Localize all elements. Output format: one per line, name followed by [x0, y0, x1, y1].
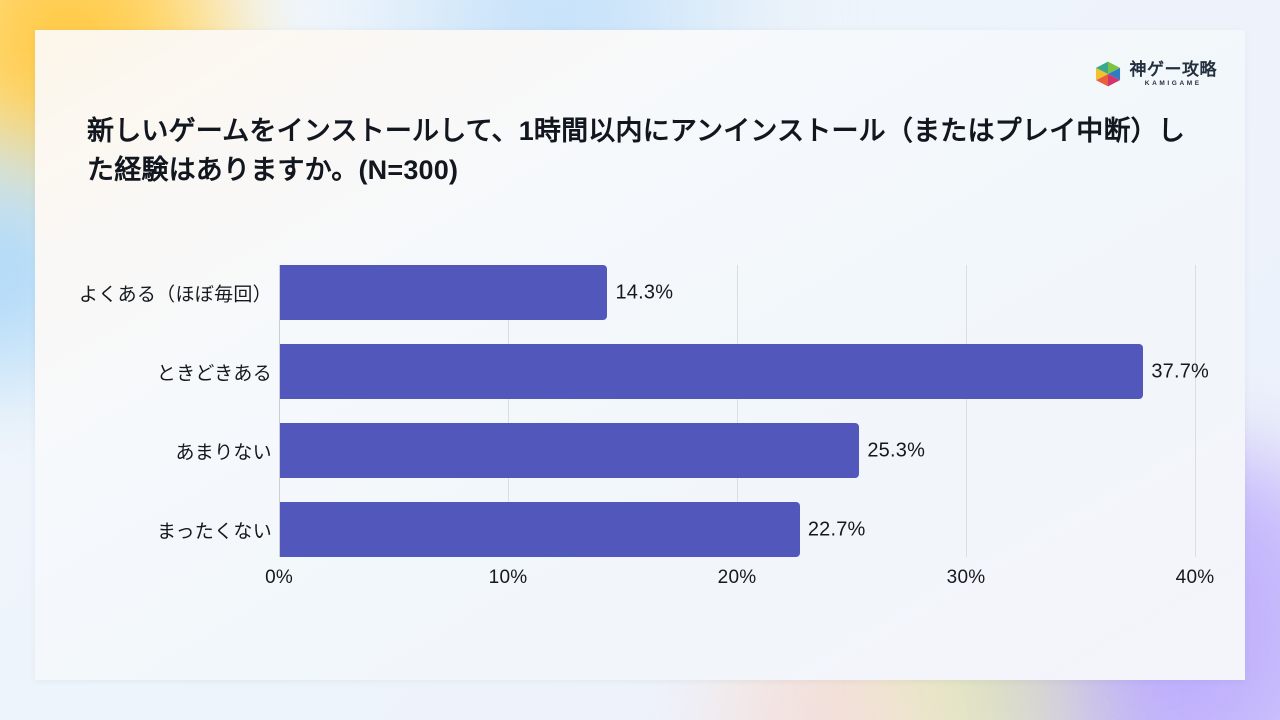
bar-value-label: 22.7% [808, 518, 866, 541]
x-tick-label-40: 40% [1176, 567, 1215, 589]
x-tick-label-0: 0% [265, 567, 293, 589]
slide-canvas: 神ゲー攻略 KAMIGAME 新しいゲームをインストールして、1時間以内にアンイ… [0, 0, 1280, 720]
gridline-x-30 [966, 265, 967, 557]
x-tick-label-30: 30% [947, 567, 986, 589]
bar-value-label: 25.3% [867, 439, 925, 462]
category-label: まったくない [42, 516, 272, 543]
bar-3 [280, 423, 859, 478]
category-label: あまりない [42, 437, 272, 464]
category-label: よくある（ほぼ毎回） [42, 279, 272, 306]
gridline-x-40 [1195, 265, 1196, 557]
category-label: ときどきある [42, 358, 272, 385]
bar-1 [280, 265, 607, 320]
x-tick-label-20: 20% [718, 567, 757, 589]
bar-2 [280, 344, 1143, 399]
bar-4 [280, 502, 800, 557]
bar-value-label: 37.7% [1151, 360, 1209, 383]
bar-value-label: 14.3% [615, 281, 673, 304]
bar-chart-plot: よくある（ほぼ毎回）14.3%ときどきある37.7%あまりない25.3%まったく… [35, 30, 1245, 680]
chart-card: 神ゲー攻略 KAMIGAME 新しいゲームをインストールして、1時間以内にアンイ… [35, 30, 1245, 680]
x-tick-label-10: 10% [489, 567, 528, 589]
